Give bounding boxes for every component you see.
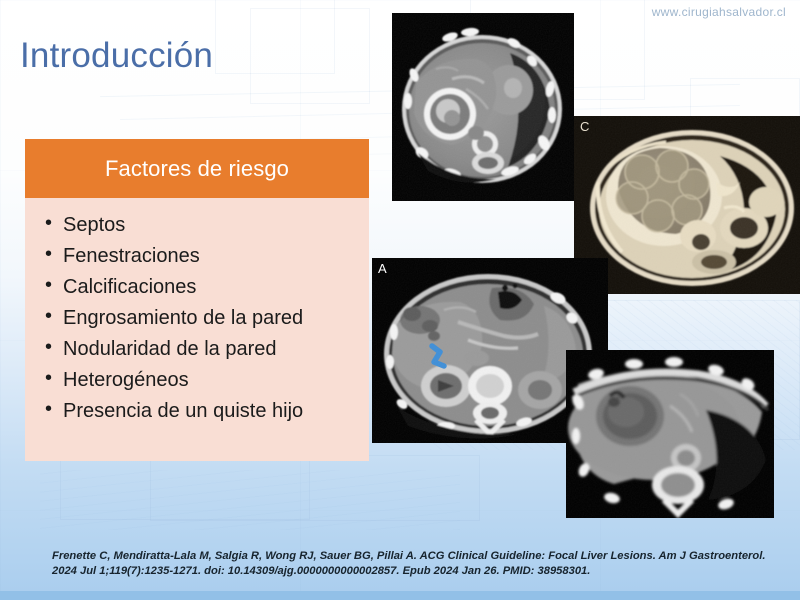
ct-calcified-hepatic-cyst [392,13,574,201]
risk-factors-header-label: Factores de riesgo [105,156,289,182]
list-item: Nodularidad de la pared [41,339,369,359]
citation-line-1: Frenette C, Mendiratta-Lala M, Salgia R,… [52,549,782,564]
presentation-slide: www.cirugiahsalvador.cl Introducción Fac… [0,0,800,600]
figure-label-a: A [378,261,387,276]
list-item: Calcificaciones [41,277,369,297]
risk-factors-header: Factores de riesgo [25,139,369,198]
list-item: Engrosamiento de la pared [41,308,369,328]
blueprint-shape [150,455,480,521]
ct-image-4 [566,350,774,518]
citation-line-2: 2024 Jul 1;119(7):1235-1271. doi: 10.143… [52,564,782,579]
citation-text: Frenette C, Mendiratta-Lala M, Salgia R,… [52,549,782,579]
blueprint-shape [250,8,370,104]
list-item: Presencia de un quiste hijo [41,401,369,421]
footer-band [0,591,800,600]
list-item: Heterogéneos [41,370,369,390]
page-title: Introducción [20,36,213,76]
list-item: Septos [41,215,369,235]
list-item: Fenestraciones [41,246,369,266]
blueprint-shape [215,0,335,74]
ct-liver-cyst-wall [566,350,774,518]
figure-label-c: C [580,119,589,134]
risk-factors-card: Factores de riesgo Septos Fenestraciones… [25,139,369,461]
site-url-watermark: www.cirugiahsalvador.cl [652,5,786,19]
ct-image-1 [392,13,574,201]
risk-factors-list: Septos Fenestraciones Calcificaciones En… [25,198,369,421]
blueprint-hatch [40,470,460,530]
